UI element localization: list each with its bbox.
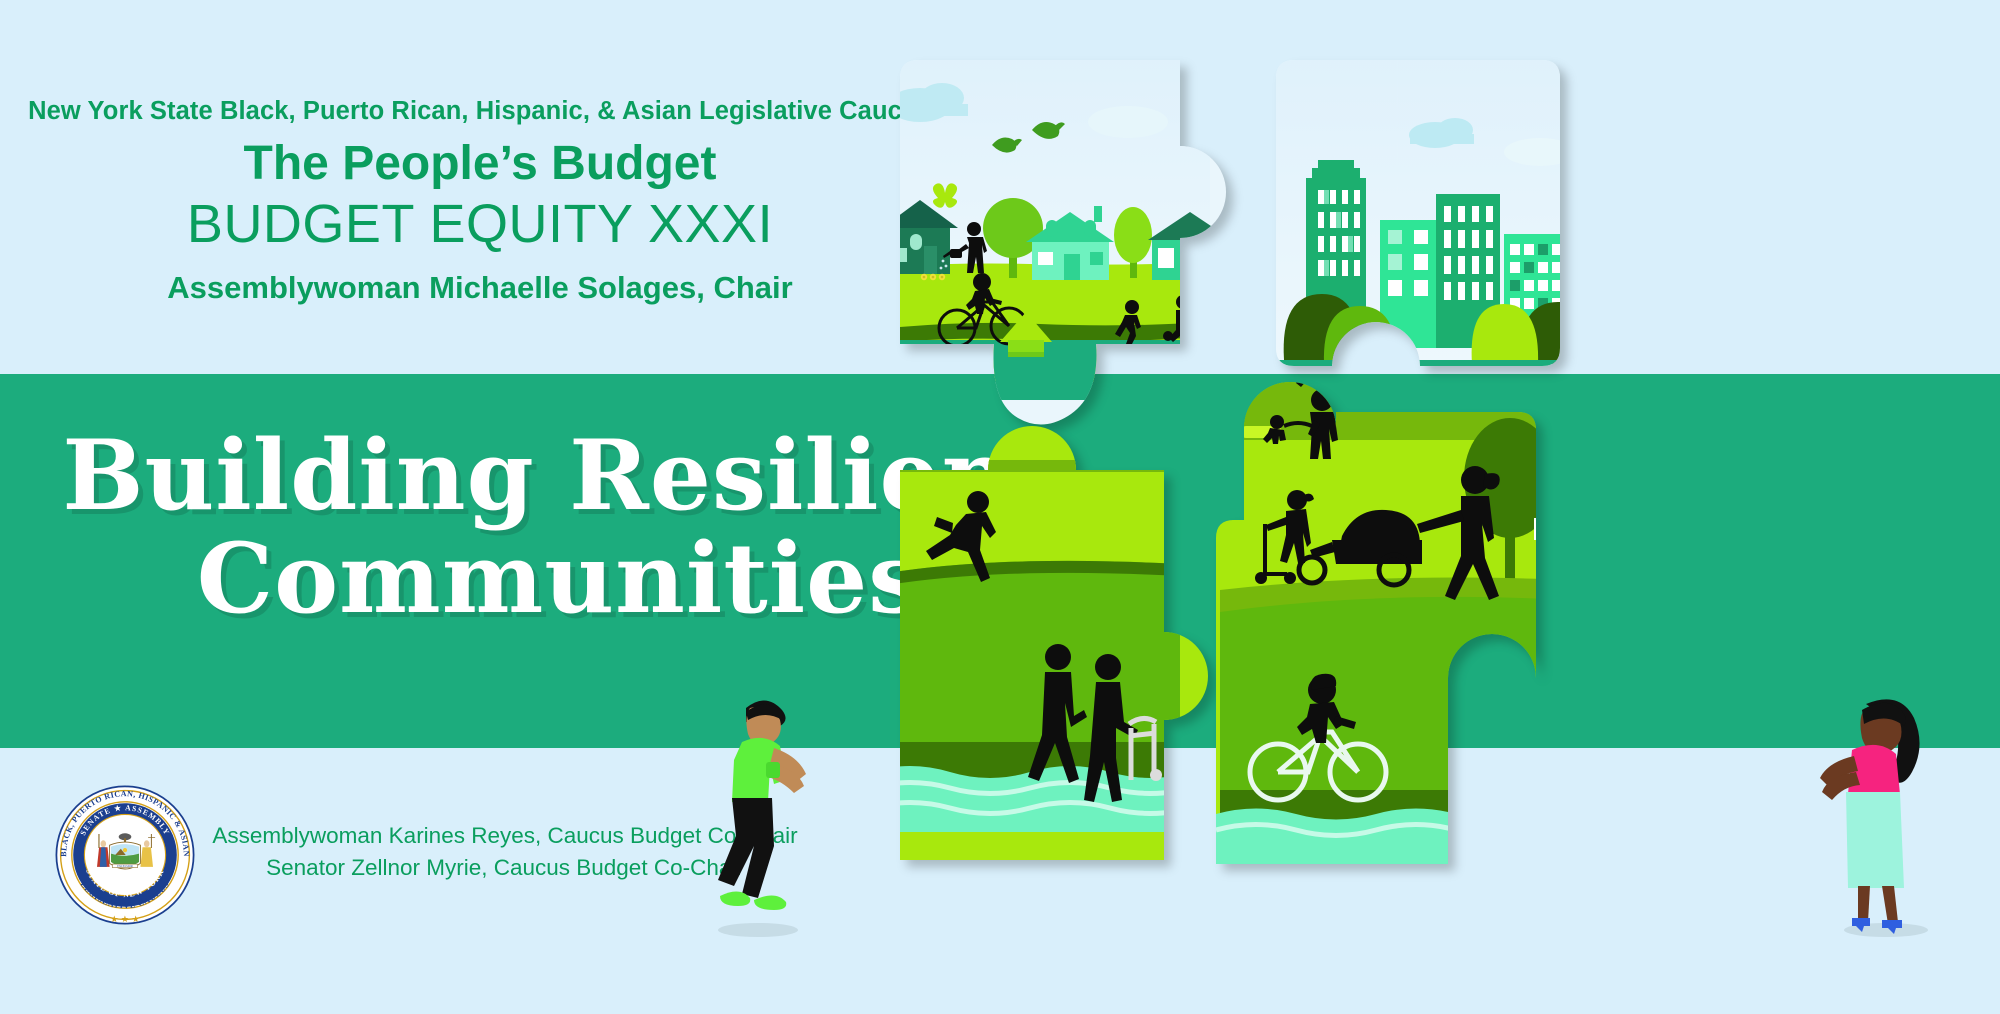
puzzle-piece-park-right[interactable] — [1216, 330, 1570, 864]
chair-name: Assemblywoman Michaelle Solages, Chair — [0, 269, 960, 306]
seal-stars: ★ ★ ★ — [110, 914, 139, 924]
caucus-seal-logo: BLACK, PUERTO RICAN, HISPANIC & ASIAN LE… — [55, 785, 195, 925]
person-pushing-right-figure — [1820, 690, 1950, 940]
person-pushing-left-figure — [700, 690, 820, 940]
svg-text:EXCELSIOR: EXCELSIOR — [117, 865, 133, 868]
poster-canvas: New York State Black, Puerto Rican, Hisp… — [0, 0, 2000, 1014]
signpost-icon — [1534, 512, 1554, 576]
puzzle-piece-park-left[interactable] — [880, 426, 1208, 860]
organization-name: New York State Black, Puerto Rican, Hisp… — [0, 96, 960, 127]
header-block: New York State Black, Puerto Rican, Hisp… — [0, 96, 960, 306]
puzzle-piece-suburban[interactable] — [880, 50, 1232, 425]
house-icon-city — [1564, 232, 1622, 348]
building-icon-2 — [1380, 220, 1438, 348]
edition-title: BUDGET EQUITY XXXI — [0, 194, 960, 254]
puzzle-piece-city[interactable] — [1260, 50, 1630, 390]
program-title: The People’s Budget — [0, 136, 960, 193]
